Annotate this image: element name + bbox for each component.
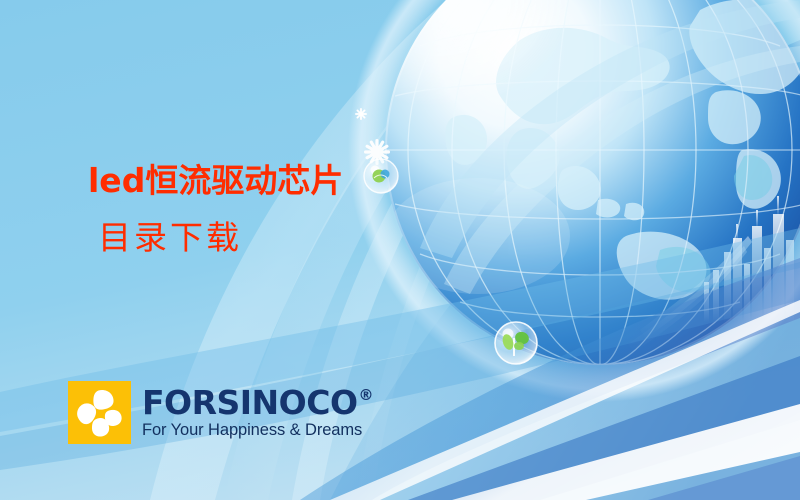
logo-wordmark-text: FORSINOCO xyxy=(142,387,358,419)
bubble-globe-icon xyxy=(364,159,398,193)
sparkle-small xyxy=(355,108,367,120)
logo-wordmark: FORSINOCO ® xyxy=(142,387,372,419)
registered-trademark-icon: ® xyxy=(359,388,374,403)
logo-tagline: For Your Happiness & Dreams xyxy=(142,422,372,439)
promo-banner: led恒流驱动芯片 目录下载 FORSINOCO ® For Your Happ xyxy=(0,0,800,500)
brand-logo: FORSINOCO ® For Your Happiness & Dreams xyxy=(68,381,372,444)
bubble-sprout-icon xyxy=(495,322,537,364)
logo-text-block: FORSINOCO ® For Your Happiness & Dreams xyxy=(142,387,372,438)
forsinoco-petal-icon xyxy=(68,381,131,444)
